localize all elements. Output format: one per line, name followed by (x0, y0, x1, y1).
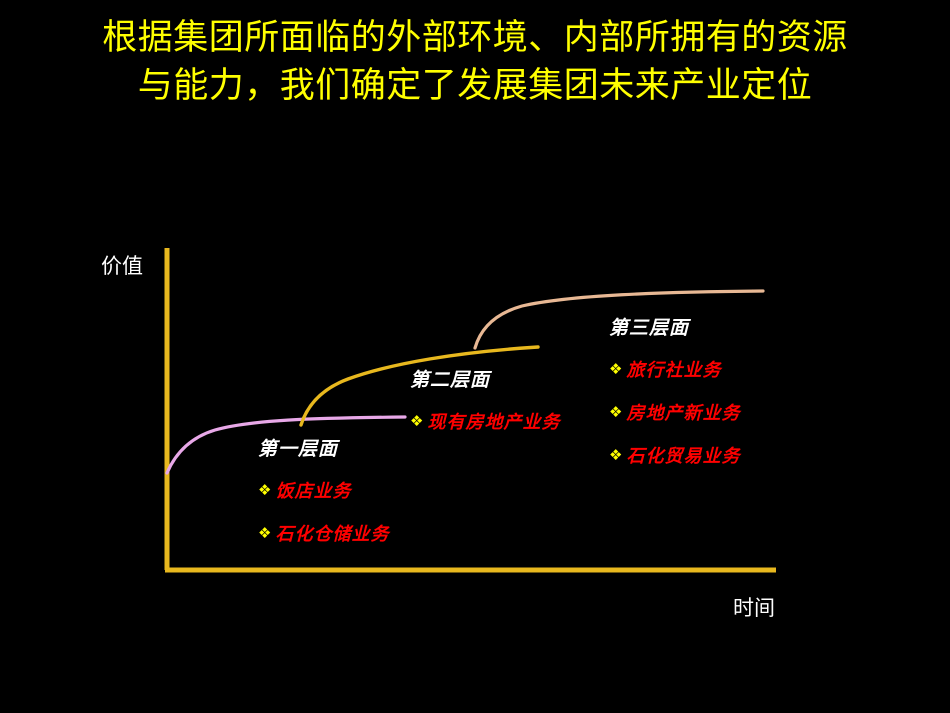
layer-2-item-0-label: 现有房地产业务 (427, 408, 560, 434)
layer-group-second: 第二层面 ❖ 现有房地产业务 (410, 365, 560, 451)
layer-3-item-0-label: 旅行社业务 (626, 356, 721, 382)
layer-1-item-1-label: 石化仓储业务 (275, 520, 389, 546)
y-axis-label: 价值 (101, 250, 143, 280)
layer-2-item-0: ❖ 现有房地产业务 (410, 408, 560, 434)
layer-2-heading: 第二层面 (410, 365, 560, 392)
layer-group-third: 第三层面 ❖ 旅行社业务 ❖ 房地产新业务 ❖ 石化贸易业务 (609, 313, 740, 485)
layer-1-item-0: ❖ 饭店业务 (258, 477, 389, 503)
layer-3-item-1: ❖ 房地产新业务 (609, 399, 740, 425)
layer-3-heading: 第三层面 (609, 313, 740, 340)
diamond-bullet-icon: ❖ (258, 483, 271, 498)
layer-3-item-1-label: 房地产新业务 (626, 399, 740, 425)
diamond-bullet-icon: ❖ (609, 405, 622, 420)
layer-3-item-0: ❖ 旅行社业务 (609, 356, 740, 382)
layer-1-item-0-label: 饭店业务 (275, 477, 351, 503)
slide-canvas: 根据集团所面临的外部环境、内部所拥有的资源 与能力，我们确定了发展集团未来产业定… (0, 0, 950, 713)
growth-curve-chart (0, 0, 950, 713)
layer-group-first: 第一层面 ❖ 饭店业务 ❖ 石化仓储业务 (258, 434, 389, 563)
diamond-bullet-icon: ❖ (609, 362, 622, 377)
layer-1-item-1: ❖ 石化仓储业务 (258, 520, 389, 546)
diamond-bullet-icon: ❖ (258, 526, 271, 541)
layer-3-item-2-label: 石化贸易业务 (626, 442, 740, 468)
layer-1-heading: 第一层面 (258, 434, 389, 461)
layer-3-item-2: ❖ 石化贸易业务 (609, 442, 740, 468)
diamond-bullet-icon: ❖ (410, 414, 423, 429)
diamond-bullet-icon: ❖ (609, 448, 622, 463)
x-axis-label: 时间 (733, 592, 775, 622)
